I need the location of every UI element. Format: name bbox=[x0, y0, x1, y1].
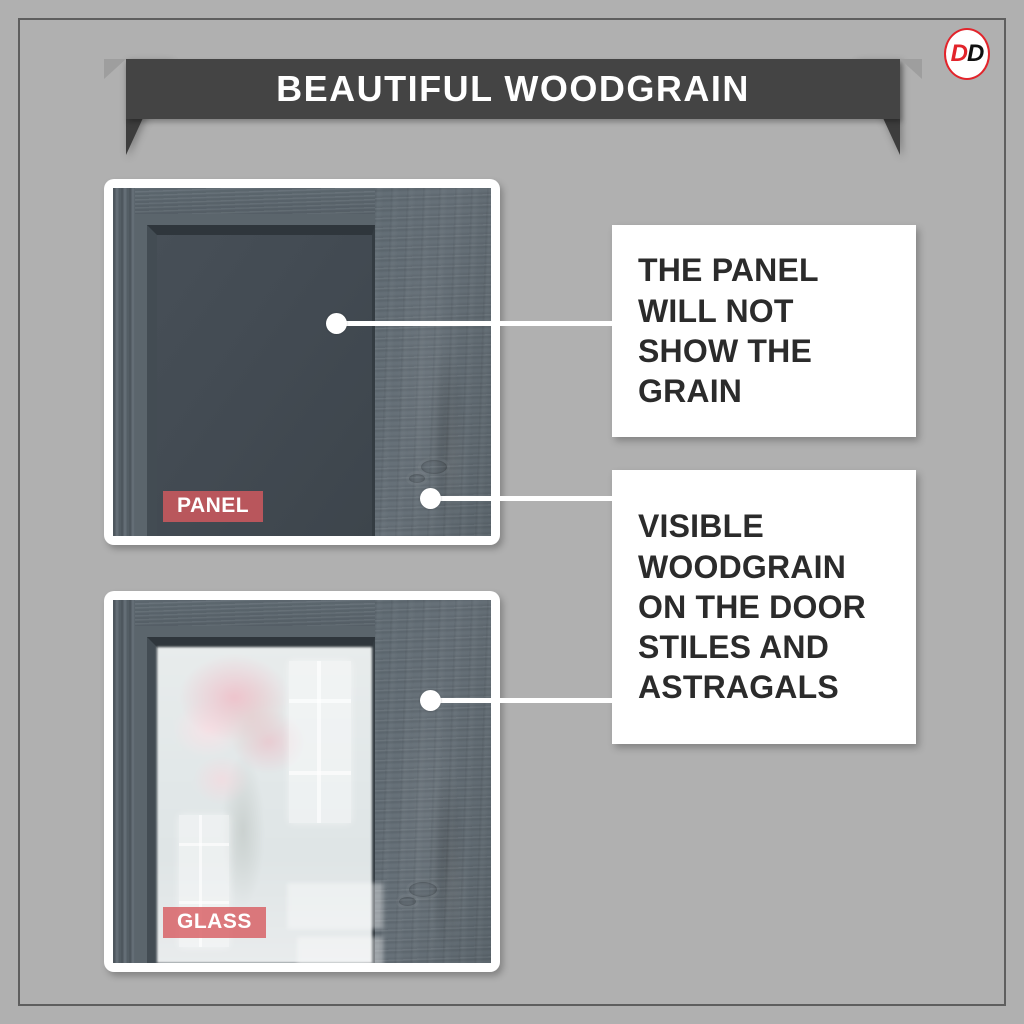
brand-logo-letter-2: D bbox=[967, 40, 983, 67]
glass-reflection-mullion bbox=[179, 843, 229, 846]
callout-line: ASTRAGALS bbox=[638, 667, 890, 707]
page-title: BEAUTIFUL WOODGRAIN bbox=[126, 59, 900, 119]
glass-stile-connector-line bbox=[430, 698, 614, 703]
callout-line: VISIBLE bbox=[638, 506, 890, 546]
woodgrain-knot-icon bbox=[399, 897, 416, 906]
recessed-panel-opening bbox=[147, 225, 375, 536]
glass-reflection-mullion bbox=[317, 661, 321, 823]
door-edge-moulding bbox=[113, 600, 135, 963]
glass-door-photo-card[interactable]: GLASS bbox=[104, 591, 500, 972]
brand-logo-letter-1: D bbox=[951, 40, 967, 67]
door-edge-moulding bbox=[113, 188, 135, 536]
glass-stile-connector-dot bbox=[420, 690, 441, 711]
brand-logo-text: DD bbox=[951, 42, 984, 66]
panel-door-photo-card[interactable]: PANEL bbox=[104, 179, 500, 545]
panel-connector-dot bbox=[326, 313, 347, 334]
panel-door-photo: PANEL bbox=[113, 188, 491, 536]
panel-connector-line bbox=[336, 321, 614, 326]
woodgrain-stile bbox=[375, 600, 491, 963]
glass-caption-chip: GLASS bbox=[163, 907, 266, 938]
glass-reflection-mullion bbox=[179, 901, 229, 904]
header-ribbon: BEAUTIFUL WOODGRAIN bbox=[104, 59, 922, 157]
callout-line: ON THE DOOR bbox=[638, 587, 890, 627]
ribbon-notch-right bbox=[900, 59, 922, 79]
glass-reflection-mullion bbox=[289, 771, 351, 775]
callout-line: STILES AND bbox=[638, 627, 890, 667]
glass-reflection-sill bbox=[287, 883, 383, 929]
callout-line: GRAIN bbox=[638, 371, 890, 411]
callout-line: THE PANEL bbox=[638, 250, 890, 290]
visible-woodgrain-callout: VISIBLE WOODGRAIN ON THE DOOR STILES AND… bbox=[612, 470, 916, 744]
callout-line: SHOW THE bbox=[638, 331, 890, 371]
woodgrain-knot-icon bbox=[421, 460, 447, 474]
callout-line: WILL NOT bbox=[638, 291, 890, 331]
stile-connector-dot bbox=[420, 488, 441, 509]
brand-logo: DD bbox=[944, 28, 990, 80]
glass-door-photo: GLASS bbox=[113, 600, 491, 963]
stile-connector-line bbox=[430, 496, 614, 501]
ribbon-notch-left bbox=[104, 59, 126, 79]
glass-reflection-mullion bbox=[289, 699, 351, 703]
callout-line: WOODGRAIN bbox=[638, 547, 890, 587]
panel-caption-chip: PANEL bbox=[163, 491, 263, 522]
panel-grain-callout: THE PANEL WILL NOT SHOW THE GRAIN bbox=[612, 225, 916, 437]
woodgrain-knot-icon bbox=[409, 882, 437, 897]
glass-reflection-sill bbox=[297, 937, 383, 963]
woodgrain-stile bbox=[375, 188, 491, 536]
woodgrain-knot-icon bbox=[409, 474, 425, 483]
